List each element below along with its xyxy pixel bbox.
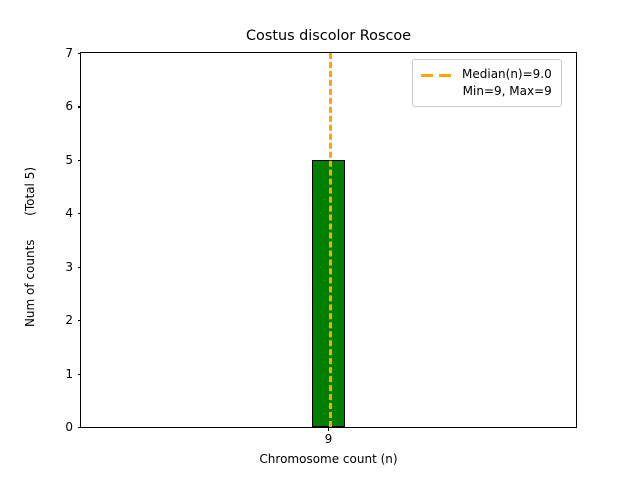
y-tick-mark [78,213,82,214]
x-axis-label: Chromosome count (n) [80,452,577,466]
legend-dash-segment-1 [421,74,433,77]
y-tick-mark [78,320,82,321]
x-tick-mark [328,427,329,431]
chart-title: Costus discolor Roscoe [80,28,577,44]
plot-inner [81,53,576,427]
y-tick-mark [78,53,82,54]
y-tick-mark [78,427,82,428]
y-axis-label-main: Num of counts [23,239,37,327]
legend-median-dashed-line-icon [421,66,455,84]
y-axis-label: Num of counts (Total 5) [23,59,37,435]
legend-label-median: Median(n)=9.0 [462,66,552,83]
y-tick-label: 1 [65,365,73,383]
y-tick-label: 4 [65,204,73,222]
y-tick-mark [78,106,82,107]
plot-area: 901234567 [80,52,577,428]
y-tick-label: 6 [65,97,73,115]
y-tick-label: 5 [65,151,73,169]
legend-dash-segment-2 [439,74,451,77]
y-axis-label-total: (Total 5) [23,167,37,216]
y-tick-label: 0 [65,418,73,436]
y-tick-label: 7 [65,44,73,62]
y-tick-label: 2 [65,311,73,329]
figure-canvas: Costus discolor Roscoe 901234567 Chromos… [0,0,640,480]
legend: Median(n)=9.0 Min=9, Max=9 [412,59,562,107]
y-tick-label: 3 [65,258,73,276]
x-tick-label: 9 [289,432,369,446]
median-line [329,53,332,427]
y-tick-mark [78,267,82,268]
y-tick-mark [78,160,82,161]
y-tick-mark [78,374,82,375]
legend-label-group: Median(n)=9.0 Min=9, Max=9 [462,66,552,100]
legend-label-minmax: Min=9, Max=9 [462,83,552,100]
